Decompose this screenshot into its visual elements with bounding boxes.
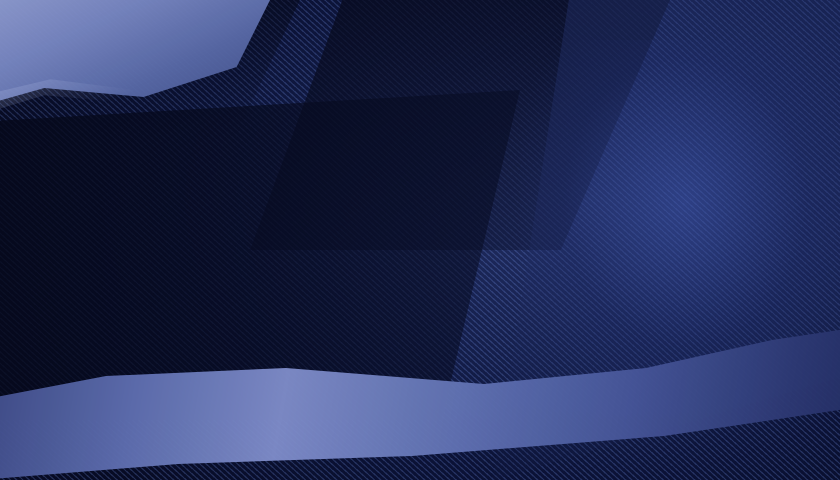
live-lecture-poster: 中交协联交通科学大讲堂 第三十一期直播讲座 公路桥隧基础设施建设养护 安全监管新…	[0, 0, 840, 480]
silk-ribbon-lower	[0, 352, 840, 480]
